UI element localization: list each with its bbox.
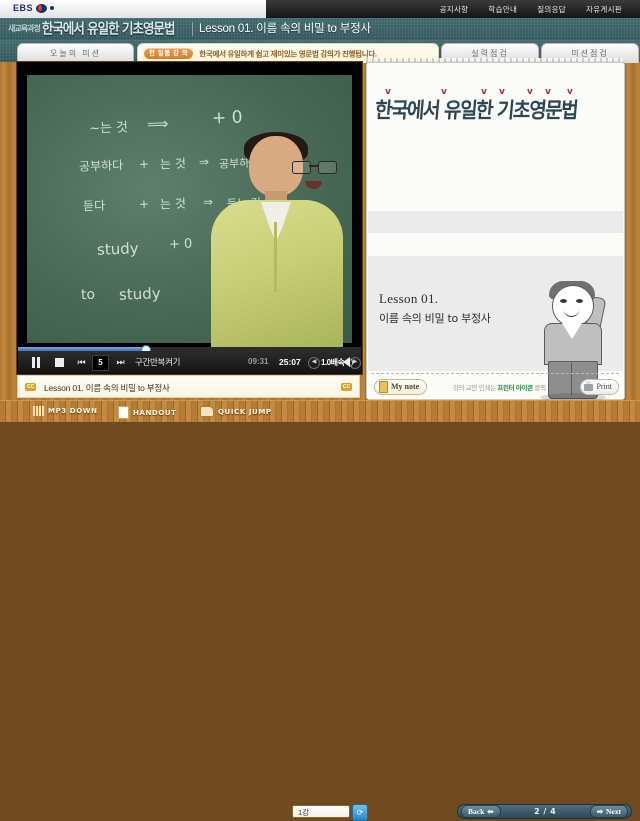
print-button[interactable]: Print — [580, 379, 619, 395]
next-button[interactable]: ➡ Next — [590, 805, 628, 818]
instructor-head — [249, 136, 303, 196]
section-count-indicator[interactable]: 5 — [92, 355, 109, 371]
page-indicator: 2 / 4 — [534, 806, 556, 817]
top-nav-links: 공지사항 학습안내 질의응답 자유게시판 — [430, 0, 632, 18]
instructor-glasses-right-icon — [318, 161, 337, 174]
video-player[interactable]: ~는 것⟹+ 0공부하다+는 것⇒공부하는듣다+는 것⇒듣는 것study+ 0… — [17, 62, 362, 374]
course-emblem: 새교육과정 한국에서 유일한 기초영문법 — [8, 20, 175, 38]
note-footer-divider — [371, 373, 619, 374]
current-time-label: 09:31 — [248, 357, 268, 366]
arrow-right-icon: ➡ — [597, 806, 603, 817]
stop-button[interactable] — [53, 356, 65, 368]
video-surface[interactable]: ~는 것⟹+ 0공부하다+는 것⇒공부하는듣다+는 것⇒듣는 것study+ 0… — [18, 63, 361, 351]
lecture-select[interactable]: 1강 — [292, 805, 350, 818]
mp3-download-label: MP3 DOWN — [48, 406, 98, 416]
chalkboard-text: + 0 — [169, 237, 193, 253]
ebs-logo-dot-icon — [50, 6, 54, 10]
note-lesson-number: Lesson 01. — [379, 289, 559, 309]
chalkboard-text: study — [97, 239, 139, 258]
handout-button[interactable]: HANDOUT — [118, 406, 177, 419]
speed-decrease-button[interactable]: ◀ — [308, 357, 320, 369]
chalkboard-text: to — [81, 287, 96, 303]
jump-go-button[interactable]: ⟳ — [352, 804, 368, 821]
print-hint-post: 클릭 — [534, 385, 545, 392]
tab-lecture-badge: 한 일품 강 의 — [144, 48, 193, 59]
document-icon — [118, 406, 129, 419]
printer-icon — [584, 384, 593, 391]
ebs-logo-mark-icon — [36, 4, 47, 13]
quick-jump-label: QUICK JUMP — [218, 407, 272, 417]
my-note-label: My note — [391, 380, 419, 394]
note-band — [368, 211, 623, 233]
repeat-section-button[interactable]: 구간반복켜기 — [135, 356, 180, 368]
course-title-label: 한국에서 유일한 기초영문법 — [42, 19, 175, 40]
mp3-download-button[interactable]: MP3 DOWN — [33, 406, 98, 416]
lecture-note-panel: vvv vvv v 한국에서 유일한 기초영문법 Lesson 01. 이름 속… — [366, 62, 625, 400]
print-hint-printer: 프린터 — [497, 385, 514, 392]
nav-link-study-guide[interactable]: 학습안내 — [478, 4, 527, 15]
character-eye-right — [576, 299, 583, 303]
note-title-text: 한국에서 유일한 기초영문법 — [374, 94, 579, 128]
caption-left-icon[interactable]: CC — [25, 383, 36, 391]
instructor-glasses-left-icon — [292, 161, 311, 174]
chalkboard-text: + — [139, 157, 150, 171]
course-tag-label: 새교육과정 — [8, 20, 40, 38]
chalkboard-text: ⇒ — [199, 155, 210, 169]
instructor-figure — [211, 136, 343, 351]
top-navigation-bar: EBS 공지사항 학습안내 질의응답 자유게시판 — [0, 0, 640, 19]
chalkboard-text: 는 것 — [160, 195, 186, 213]
total-time-label: 25:07 — [279, 357, 301, 367]
chalkboard-text: ~는 것 — [89, 116, 129, 136]
notebook-icon — [379, 381, 388, 393]
chalkboard-text: ⟹ — [147, 115, 169, 134]
note-lesson-block: Lesson 01. 이름 속의 비밀 to 부정사 — [379, 289, 559, 329]
pause-button[interactable] — [30, 356, 42, 368]
nav-link-free-board[interactable]: 자유게시판 — [576, 4, 632, 15]
ebs-logo[interactable]: EBS — [13, 3, 54, 13]
caption-strip: CC Lesson 01. 이름 속의 비밀 to 부정사 CC — [17, 375, 360, 398]
equalizer-icon — [33, 406, 44, 416]
app-root: EBS 공지사항 학습안내 질의응답 자유게시판 새교육과정 한국에서 유일한 … — [0, 0, 640, 421]
character-eye-left — [560, 299, 567, 303]
player-control-bar: ⏮ 5 ⏭ 구간반복켜기 09:31 25:07 ◀ 1.0배속 ▶ ) — [18, 351, 361, 373]
chalkboard-text: 는 것 — [160, 155, 186, 173]
character-leg-split — [571, 363, 572, 395]
note-lesson-name: 이름 속의 비밀 to 부정사 — [379, 309, 559, 329]
jump-icon — [200, 406, 214, 417]
back-label: Back — [468, 806, 484, 817]
ebs-logo-text: EBS — [13, 3, 33, 13]
nav-link-notice[interactable]: 공지사항 — [430, 4, 479, 15]
chalkboard-text: 듣다 — [83, 197, 106, 215]
nav-link-qna[interactable]: 질의응답 — [527, 4, 576, 15]
caption-text: Lesson 01. 이름 속의 비밀 to 부정사 — [44, 382, 170, 394]
next-label: Next — [606, 806, 621, 817]
tab-lecture-description: 한국에서 유일하게 쉽고 재미있는 영문법 강의가 진행됩니다. — [199, 49, 377, 58]
volume-icon[interactable]: ) — [341, 356, 355, 368]
tab-todays-mission[interactable]: 오늘의 미션 — [17, 43, 134, 63]
instructor-placket — [274, 222, 277, 292]
chalkboard-text: + — [139, 197, 150, 211]
my-note-button[interactable]: My note — [374, 379, 427, 395]
pager: Back ⬅ 2 / 4 ➡ Next — [457, 804, 632, 819]
print-hint-pre: 강의 교안 인쇄는 — [453, 385, 496, 392]
print-label: Print — [596, 380, 612, 394]
bottom-toolbar: MP3 DOWN HANDOUT QUICK JUMP 1강 ⟳ Back ⬅ … — [0, 400, 640, 422]
page-title: Lesson 01. 이름 속의 비밀 to 부정사 — [199, 18, 371, 40]
print-hint-text: 강의 교안 인쇄는 프린터 아이콘 클릭 — [453, 382, 546, 392]
next-section-button[interactable]: ⏭ — [114, 356, 127, 368]
print-hint-icon-word: 아이콘 — [516, 385, 533, 392]
instructor-mouth — [305, 181, 322, 189]
quick-jump-button[interactable]: QUICK JUMP — [200, 406, 272, 417]
back-button[interactable]: Back ⬅ — [461, 805, 501, 818]
chalkboard-text: + 0 — [212, 107, 243, 128]
note-title: vvv vvv v 한국에서 유일한 기초영문법 — [375, 96, 615, 138]
caption-right-icon[interactable]: CC — [341, 383, 352, 391]
chalkboard-text: study — [119, 284, 161, 303]
title-divider — [192, 22, 193, 36]
previous-section-button[interactable]: ⏮ — [75, 356, 88, 368]
handout-label: HANDOUT — [133, 408, 177, 418]
arrow-left-icon: ⬅ — [487, 806, 493, 817]
instructor-glasses-bridge — [309, 165, 318, 167]
chalkboard-text: 공부하다 — [79, 156, 124, 175]
